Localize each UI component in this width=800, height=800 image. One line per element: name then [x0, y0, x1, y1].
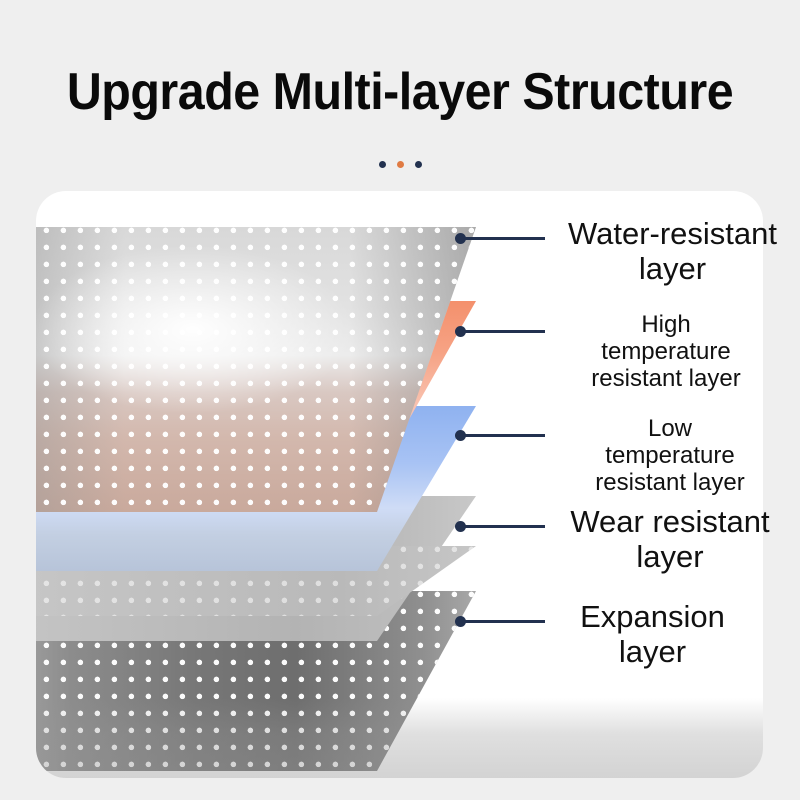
- dot-center-icon: [397, 161, 404, 168]
- decorative-dots: [0, 161, 800, 168]
- infographic-page: Upgrade Multi-layer Structure: [0, 0, 800, 800]
- callout-line-wear-resistant: [460, 525, 545, 528]
- callout-line-low-temperature: [460, 434, 545, 437]
- callout-label-expansion: Expansion layer: [545, 599, 760, 669]
- callout-line-expansion: [460, 620, 545, 623]
- dot-right-icon: [415, 161, 422, 168]
- callout-label-wear-resistant: Wear resistant layer: [545, 504, 795, 574]
- callout-line-high-temperature: [460, 330, 545, 333]
- callout-label-water-resistant: Water-resistant layer: [545, 216, 800, 286]
- dot-left-icon: [379, 161, 386, 168]
- polka-dot-pattern-water: [36, 227, 476, 512]
- layer-water-resistant[interactable]: [36, 227, 476, 512]
- callout-line-water-resistant: [460, 237, 545, 240]
- callout-label-low-temperature: Low temperature resistant layer: [545, 415, 795, 496]
- page-title: Upgrade Multi-layer Structure: [28, 62, 772, 122]
- callout-label-high-temperature: High temperature resistant layer: [545, 311, 787, 392]
